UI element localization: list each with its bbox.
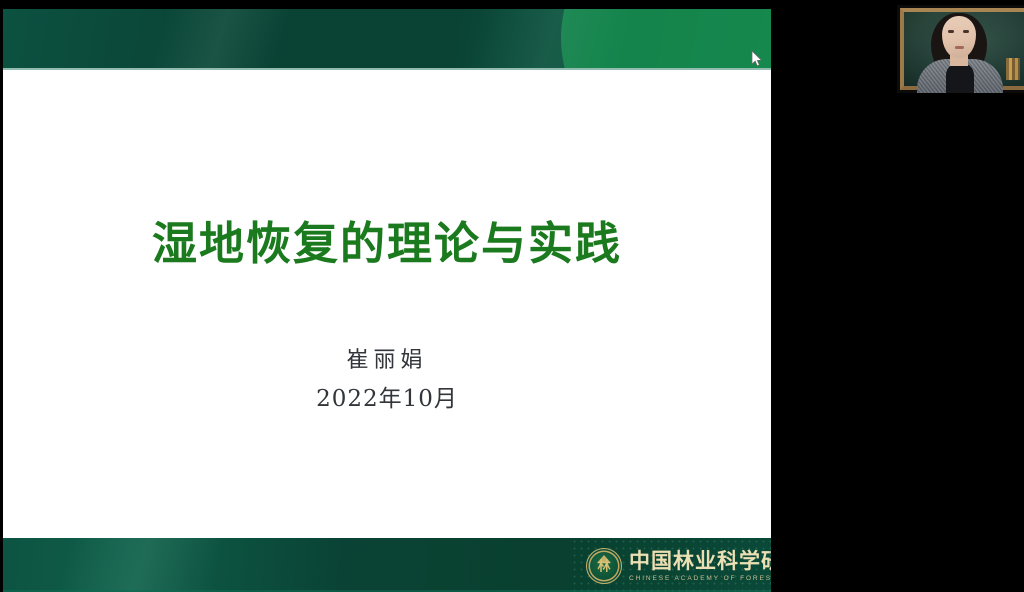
academy-seal-icon: 林 [586, 548, 622, 584]
slide-header-band [3, 9, 771, 68]
seal-glyph: 林 [597, 560, 610, 573]
slide-title: 湿地恢复的理论与实践 [3, 218, 771, 270]
presenter-inner-top [946, 63, 974, 93]
slide-author: 崔丽娟 [3, 342, 771, 374]
header-divider-line [3, 68, 771, 70]
logo-text-block: 中国林业科学研究院 CHINESE ACADEMY OF FORESTRY [629, 550, 771, 582]
presenter-video-thumbnail[interactable] [897, 5, 1024, 93]
bookshelf-decor [1006, 58, 1020, 80]
presenter-eye-right [963, 30, 969, 33]
letterbox-top [3, 0, 771, 9]
presenter-mouth [955, 46, 964, 49]
footer-light-streak [47, 538, 230, 592]
logo-english-name: CHINESE ACADEMY OF FORESTRY [629, 575, 771, 582]
organization-logo: 林 中国林业科学研究院 CHINESE ACADEMY OF FORESTRY [586, 545, 766, 587]
presentation-slide[interactable]: 湿地恢复的理论与实践 崔丽娟 2022年10月 林 中国林业科学研究院 CHIN… [3, 0, 771, 592]
screen-share-view: 湿地恢复的理论与实践 崔丽娟 2022年10月 林 中国林业科学研究院 CHIN… [0, 0, 1024, 592]
header-light-streak-right [451, 9, 645, 68]
presenter-eye-left [948, 30, 954, 33]
logo-chinese-name: 中国林业科学研究院 [629, 550, 771, 572]
presenter-face [942, 16, 976, 58]
slide-date: 2022年10月 [3, 379, 771, 413]
